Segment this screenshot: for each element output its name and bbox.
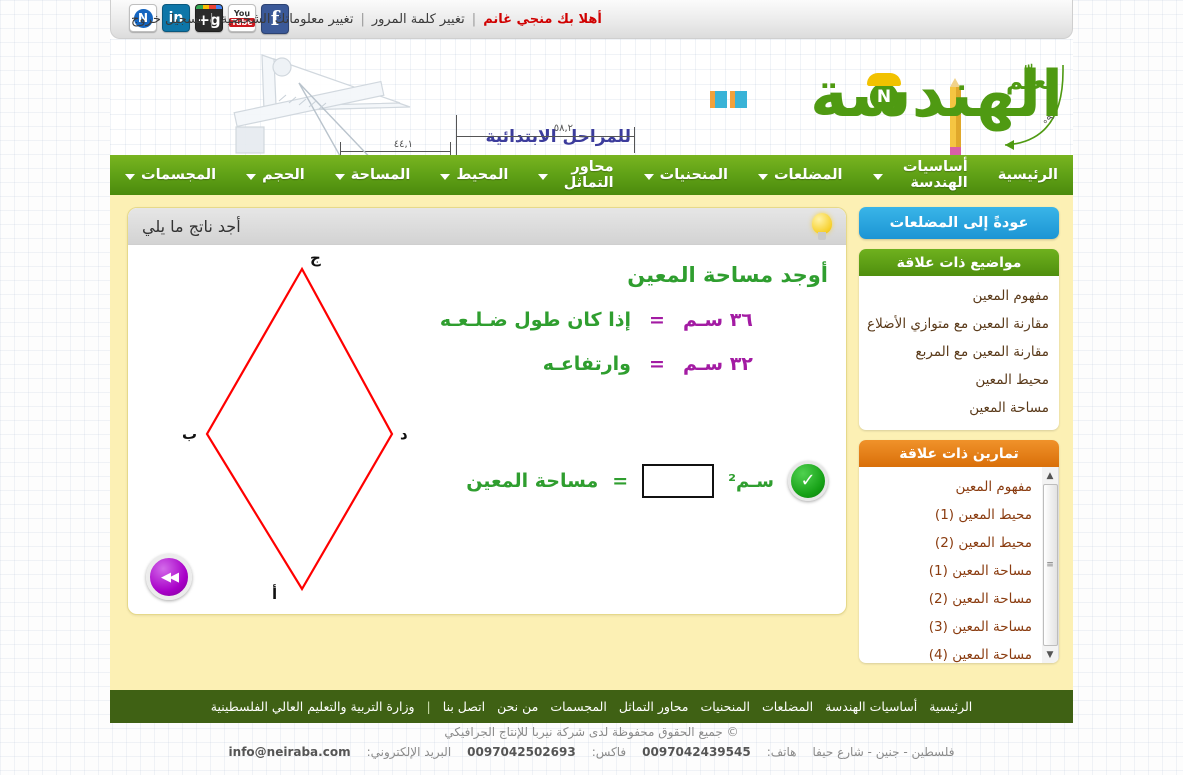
related-exercises-list: مفهوم المعين محيط المعين (1) محيط المعين…: [859, 467, 1042, 663]
chevron-down-icon[interactable]: ▼: [1044, 648, 1057, 661]
related-exercises-scroll-wrap: ▲ ≡ ▼ مفهوم المعين محيط المعين (1) محيط …: [859, 467, 1059, 663]
mascot-helmet-icon: N: [867, 77, 901, 111]
answer-equals: =: [612, 470, 628, 492]
top-bar: f You Tube g+ in N أهلا بك منجي غانم | ت…: [110, 0, 1073, 39]
related-exercises-panel: تمارين ذات علاقة ▲ ≡ ▼ مفهوم المعين محيط…: [859, 440, 1059, 663]
related-exercises-heading: تمارين ذات علاقة: [859, 440, 1059, 467]
list-item[interactable]: محيط المعين: [869, 366, 1049, 394]
nav-item-curves[interactable]: المنحنيات: [629, 155, 743, 195]
footer-link-curves[interactable]: المنحنيات: [701, 699, 750, 714]
exercise-card: أجد ناتج ما يلي ج ب د أ أوجد مساحة المعي…: [127, 207, 847, 615]
list-item[interactable]: مساحة المعين (1): [869, 557, 1032, 585]
footer-link-contact-us[interactable]: اتصل بنا: [443, 699, 485, 714]
logo-word: الهندسة: [810, 63, 1063, 127]
nav-item-home[interactable]: الرئيسية: [983, 155, 1073, 195]
vertex-label-top: ج: [310, 249, 321, 267]
contact-row: فلسطين - جنين - شارع حيفا هاتف: 00970424…: [110, 742, 1073, 762]
chevron-down-icon: [335, 174, 345, 180]
top-separator-1: |: [472, 12, 476, 27]
footer-link-symmetry-axes[interactable]: محاور التماثل: [619, 699, 689, 714]
lightbulb-glass: [812, 213, 832, 234]
list-item[interactable]: محيط المعين (2): [869, 529, 1032, 557]
answer-input[interactable]: [642, 464, 714, 498]
change-password-link[interactable]: تغيير كلمة المرور: [372, 12, 465, 27]
list-item[interactable]: مفهوم المعين: [869, 473, 1032, 501]
nav-item-symmetry-axes[interactable]: محاور التماثل: [523, 155, 628, 195]
exercise-card-header: أجد ناتج ما يلي: [128, 208, 846, 245]
contact-phone: 0097042439545: [642, 742, 751, 762]
footer-link-home[interactable]: الرئيسية: [929, 699, 972, 714]
footer-ministry: وزارة التربية والتعليم العالي الفلسطينية: [211, 699, 415, 714]
nav-item-volume-label: الحجم: [262, 167, 305, 183]
nav-item-volume[interactable]: الحجم: [231, 155, 320, 195]
dimension-left-label: ٥٨,٢: [554, 123, 573, 134]
mascot-hat: [867, 73, 901, 86]
question-row-height-label: وارتفاعـه: [413, 353, 631, 375]
question-row-side-value: ٣٦ سـم: [683, 309, 753, 331]
footer-separator: |: [427, 699, 431, 714]
exercises-scroll-area: مفهوم المعين محيط المعين (1) محيط المعين…: [859, 467, 1042, 663]
top-separator-3: |: [209, 12, 213, 27]
list-item[interactable]: مقارنة المعين مع متوازي الأضلاع: [869, 310, 1049, 338]
nav-item-home-label: الرئيسية: [998, 167, 1058, 183]
quote-marks-icon: [710, 91, 747, 108]
question-row-side-label: إذا كان طول ضـلـعـه: [413, 309, 631, 331]
nav-item-area-label: المساحة: [351, 167, 411, 183]
nav-item-geometry-basics[interactable]: أساسيات الهندسة: [858, 155, 983, 195]
account-links: أهلا بك منجي غانم | تغيير كلمة المرور | …: [131, 0, 602, 39]
site-banner: ٩٠° تعلّم الهندسة N للمراحل الابتدائية ٥…: [110, 39, 1073, 155]
lightbulb-base: [818, 232, 826, 240]
check-answer-button[interactable]: ✓: [788, 461, 828, 501]
contact-phone-label: هاتف:: [767, 742, 797, 762]
answer-unit: سـم²: [728, 471, 774, 492]
welcome-message: أهلا بك منجي غانم: [483, 12, 602, 27]
edit-profile-link[interactable]: تغيير معلوماتك الشخصية: [221, 12, 354, 27]
sidebar: عودةً إلى المضلعات مواضيع ذات علاقة مفهو…: [859, 207, 1059, 678]
content-area: عودةً إلى المضلعات مواضيع ذات علاقة مفهو…: [110, 195, 1073, 690]
contact-fax: 0097042502693: [467, 742, 576, 762]
footer-link-geometry-basics[interactable]: أساسيات الهندسة: [825, 699, 917, 714]
vertex-label-bottom: أ: [272, 585, 277, 603]
list-item[interactable]: مساحة المعين (2): [869, 585, 1032, 613]
question-row-side-equals: =: [631, 309, 683, 331]
nav-item-curves-label: المنحنيات: [660, 167, 728, 183]
chevron-down-icon: [440, 174, 450, 180]
nav-item-polygons[interactable]: المضلعات: [743, 155, 858, 195]
exercises-scrollbar[interactable]: ▲ ≡ ▼: [1042, 467, 1059, 663]
footer-navigation: الرئيسية أساسيات الهندسة المضلعات المنحن…: [110, 690, 1073, 723]
list-item[interactable]: مساحة المعين (3): [869, 613, 1032, 641]
site-shell: f You Tube g+ in N أهلا بك منجي غانم | ت…: [110, 0, 1073, 716]
related-topics-panel: مواضيع ذات علاقة مفهوم المعين مقارنة الم…: [859, 249, 1059, 430]
list-item[interactable]: مفهوم المعين: [869, 282, 1049, 310]
nav-item-geometry-basics-label: أساسيات الهندسة: [889, 159, 968, 191]
rewind-button[interactable]: ◀◀: [146, 554, 192, 600]
nav-item-polygons-label: المضلعات: [774, 167, 843, 183]
copyright-text: © جميع الحقوق محفوظة لدى شركة نيربا للإن…: [110, 722, 1073, 742]
exercise-card-body: ج ب د أ أوجد مساحة المعين إذا كان طول ضـ…: [128, 245, 846, 614]
rhombus-figure: ج ب د أ: [142, 249, 442, 599]
nav-item-perimeter-label: المحيط: [456, 167, 508, 183]
chevron-down-icon: [538, 174, 548, 180]
rhombus-shape: [142, 249, 442, 599]
contact-address: فلسطين - جنين - شارع حيفا: [813, 742, 955, 762]
question-row-height-value: ٣٢ سـم: [683, 353, 753, 375]
page-title: أجد ناتج ما يلي: [142, 217, 241, 236]
question-block: أوجد مساحة المعين إذا كان طول ضـلـعـه = …: [413, 263, 828, 397]
answer-row: مساحة المعين = سـم² ✓: [466, 461, 828, 501]
chevron-down-icon: [125, 174, 135, 180]
question-row-side: إذا كان طول ضـلـعـه = ٣٦ سـم: [413, 309, 828, 331]
scrollbar-grip: ≡: [1046, 562, 1054, 569]
question-row-height-equals: =: [631, 353, 683, 375]
list-item[interactable]: مساحة المعين: [869, 394, 1049, 422]
vertex-label-right: د: [400, 425, 408, 443]
logout-link[interactable]: تسجيل خروج: [131, 12, 202, 27]
mascot-letter: N: [870, 83, 898, 111]
scrollbar-thumb[interactable]: ≡: [1043, 484, 1058, 646]
top-separator-2: |: [360, 12, 364, 27]
nav-item-symmetry-axes-label: محاور التماثل: [554, 159, 613, 191]
copyright-block: © جميع الحقوق محفوظة لدى شركة نيربا للإن…: [110, 722, 1073, 762]
main-navigation: الرئيسية أساسيات الهندسة المضلعات المنحن…: [110, 155, 1073, 195]
contact-email-label: البريد الإلكتروني:: [367, 742, 452, 762]
answer-label: مساحة المعين: [466, 470, 598, 492]
related-topics-list: مفهوم المعين مقارنة المعين مع متوازي الأ…: [859, 276, 1059, 430]
chevron-up-icon[interactable]: ▲: [1044, 469, 1057, 482]
list-item[interactable]: محيط المعين (1): [869, 501, 1032, 529]
drafting-tools-illustration: [114, 45, 434, 155]
chevron-down-icon: [758, 174, 768, 180]
back-to-polygons-button[interactable]: عودةً إلى المضلعات: [859, 207, 1059, 239]
nav-item-solids[interactable]: المجسمات: [110, 155, 231, 195]
nav-item-solids-label: المجسمات: [141, 167, 216, 183]
footer-link-solids[interactable]: المجسمات: [550, 699, 607, 714]
footer-link-about-us[interactable]: من نحن: [497, 699, 538, 714]
nav-item-perimeter[interactable]: المحيط: [425, 155, 523, 195]
question-row-height: وارتفاعـه = ٣٢ سـم: [413, 353, 828, 375]
footer-link-polygons[interactable]: المضلعات: [762, 699, 813, 714]
nav-item-area[interactable]: المساحة: [320, 155, 426, 195]
contact-email: info@neiraba.com: [229, 742, 351, 762]
chevron-down-icon: [246, 174, 256, 180]
vertex-label-left: ب: [182, 425, 197, 443]
contact-fax-label: فاكس:: [592, 742, 626, 762]
chevron-down-icon: [644, 174, 654, 180]
chevron-down-icon: [873, 174, 883, 180]
related-topics-heading: مواضيع ذات علاقة: [859, 249, 1059, 276]
list-item[interactable]: مساحة المعين (4): [869, 641, 1032, 663]
question-title: أوجد مساحة المعين: [413, 263, 828, 287]
list-item[interactable]: مقارنة المعين مع المربع: [869, 338, 1049, 366]
lightbulb-icon: [812, 213, 832, 240]
